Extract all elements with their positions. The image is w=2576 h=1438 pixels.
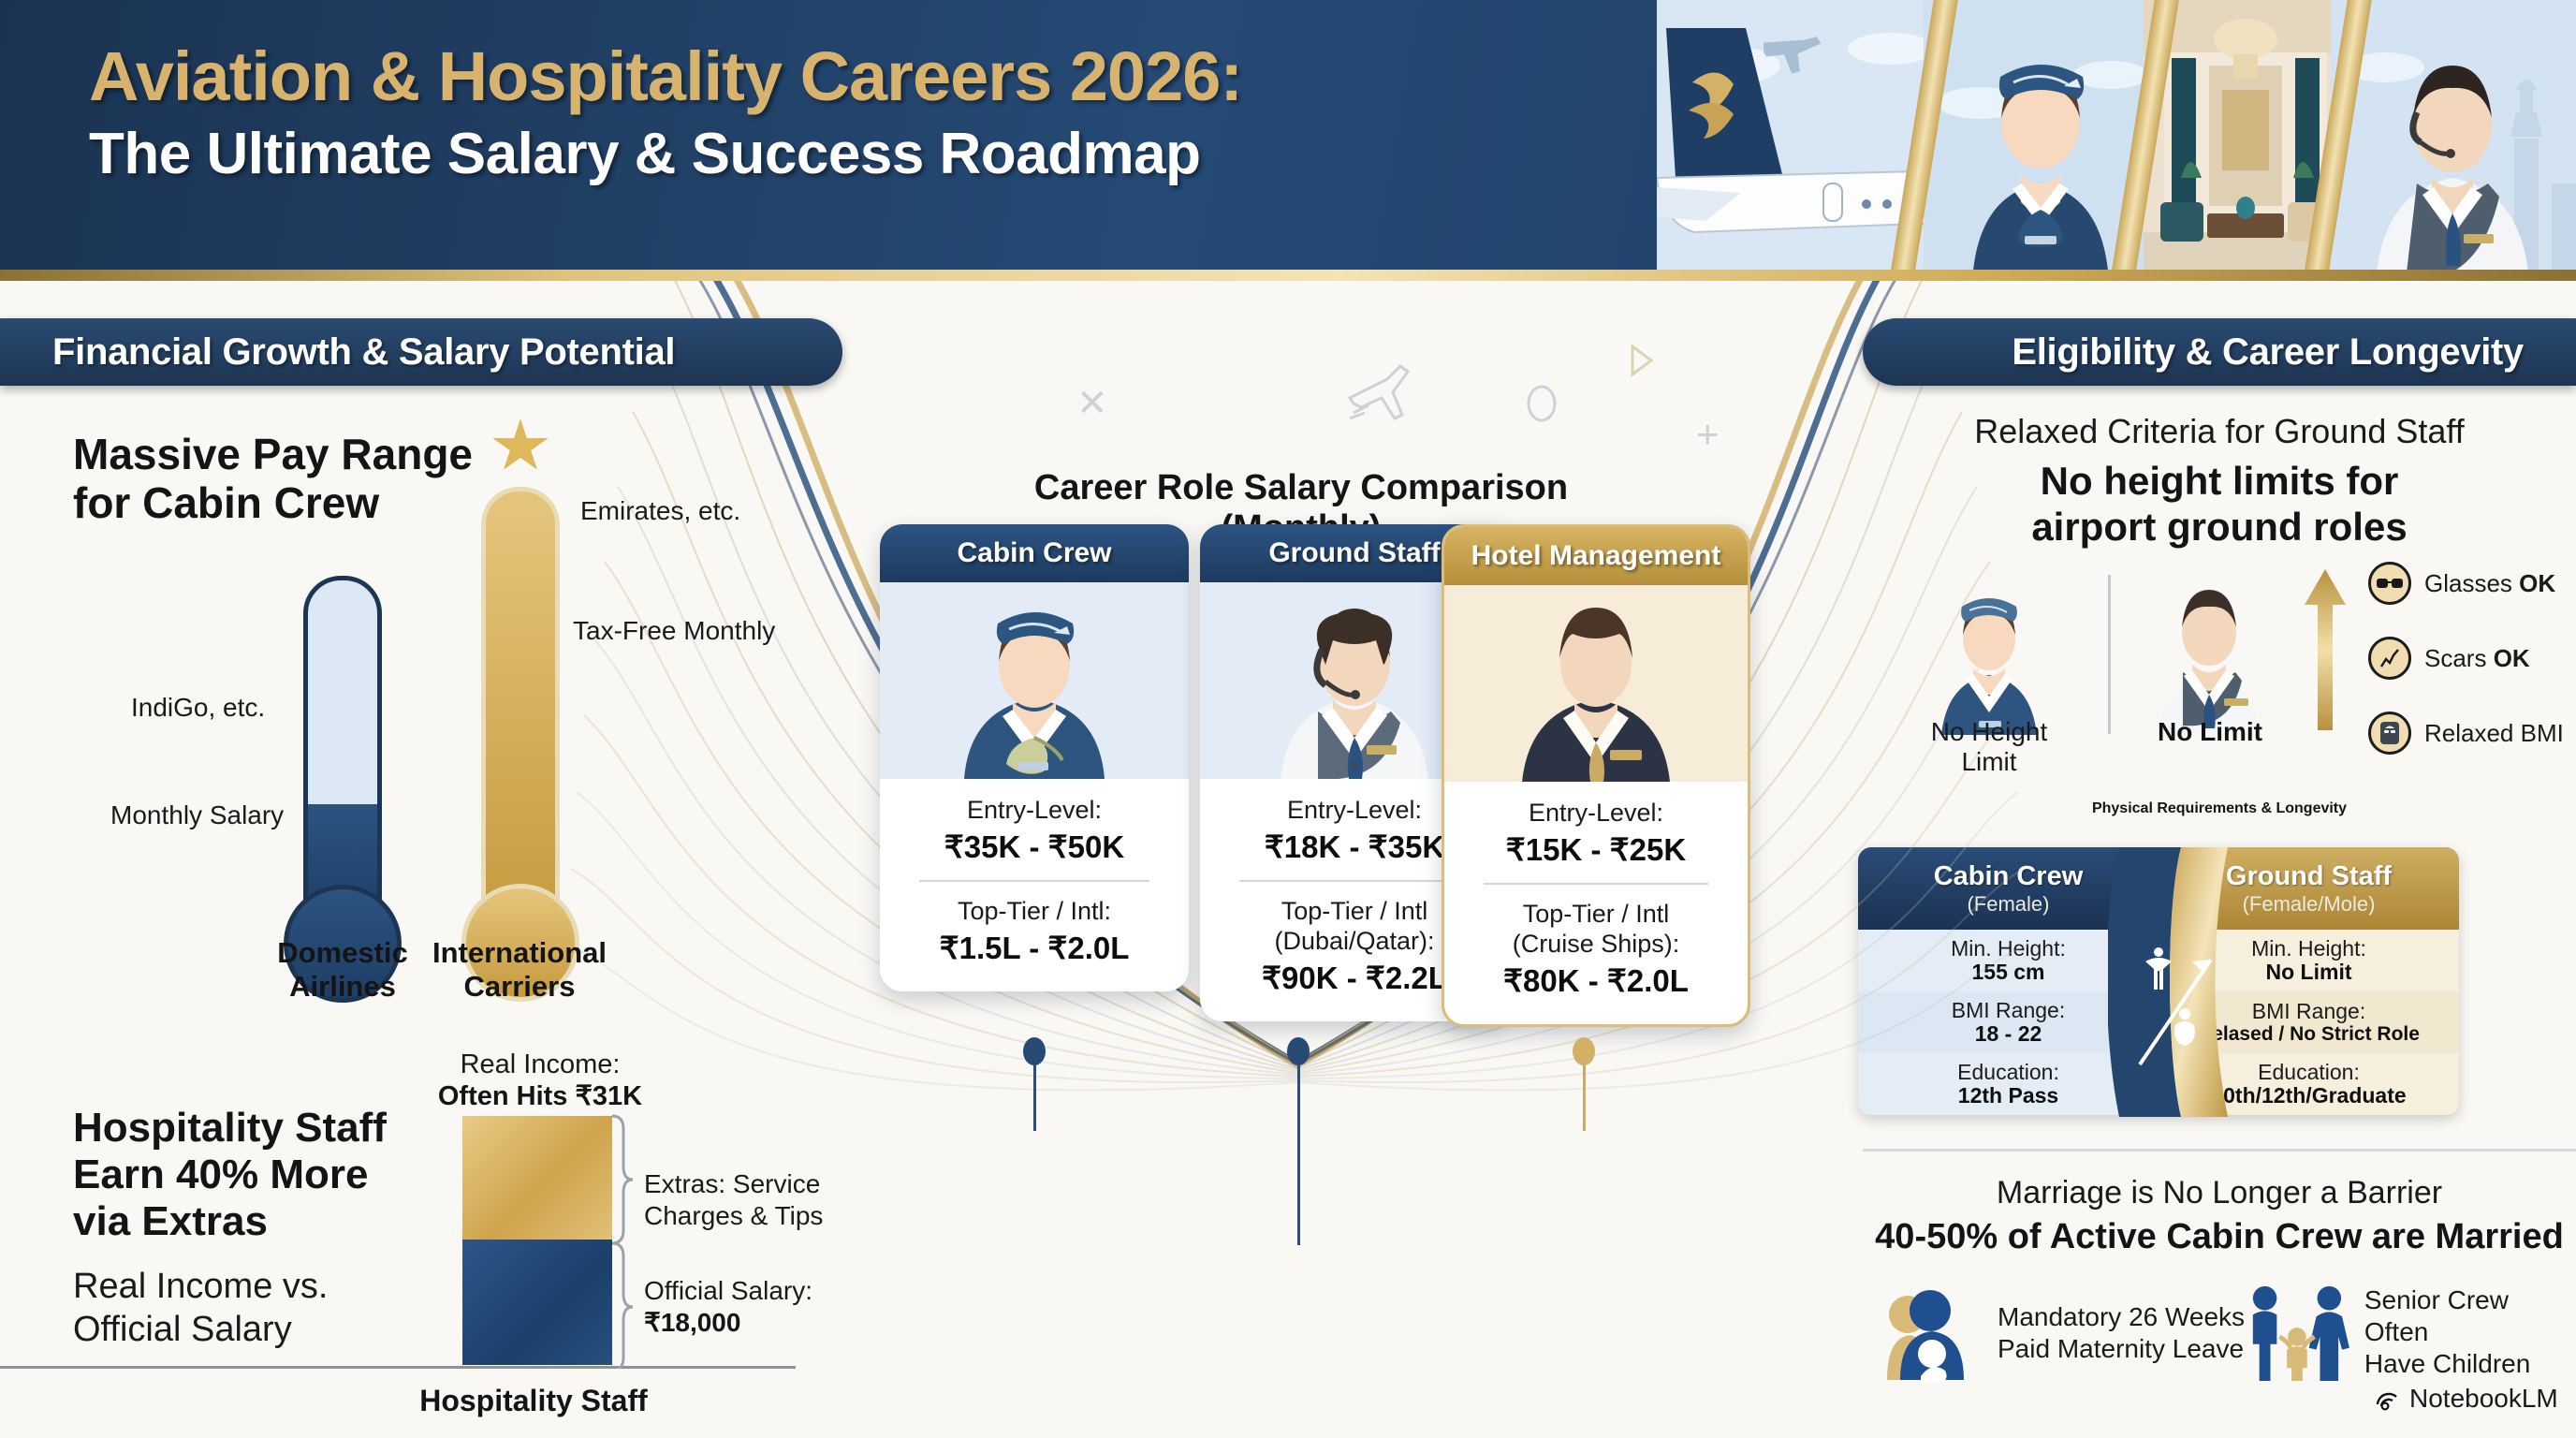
international-label-line2: Carriers (423, 970, 616, 1004)
eligibility-heading-line1: No height limits for (1863, 459, 2576, 505)
marriage-line2: 40-50% of Active Cabin Crew are Married (1863, 1217, 2576, 1257)
card-connector-line-2 (1297, 1049, 1300, 1245)
card-connector-dot-1 (1023, 1037, 1046, 1065)
cabin-top-value: ₹1.5L - ₹2.0L (895, 930, 1174, 967)
section-bar-eligibility-label: Eligibility & Career Longevity (1959, 331, 2576, 374)
hotel-entry-label: Entry-Level: (1459, 799, 1733, 829)
badge-scars-ok: OK (2494, 644, 2530, 672)
female-cabin-crew-avatar (880, 582, 1189, 779)
role-card-hotel-management[interactable]: Hotel Management Entry-Level: ₹15K - ₹25… (1442, 524, 1750, 1027)
official-salary-line1: Official Salary: (644, 1275, 812, 1307)
male-hotel-manager-avatar (1444, 585, 1748, 782)
role-card-hotel-management-title: Hotel Management (1471, 540, 1721, 572)
eligibility-divider (2108, 575, 2111, 734)
card-connector-dot-2 (1287, 1037, 1310, 1065)
payrange-heading-line2: for Cabin Crew (73, 479, 473, 528)
header-gold-divider (0, 270, 2576, 281)
payrange-heading: Massive Pay Range for Cabin Crew (73, 431, 473, 527)
fact-children-line2: Have Children (2364, 1348, 2576, 1380)
official-salary-label: Official Salary: ₹18,000 (644, 1275, 812, 1338)
international-caption-top: Emirates, etc. (580, 496, 740, 526)
fact-children-line1: Senior Crew Often (2364, 1284, 2576, 1348)
cabin-entry-label: Entry-Level: (895, 796, 1174, 826)
extras-label-line1: Extras: Service (644, 1168, 823, 1200)
header-text-block: Aviation & Hospitality Careers 2026: The… (89, 39, 1242, 186)
badge-glasses: Glasses OK (2368, 562, 2555, 605)
real-income-line1: Real Income: (423, 1049, 657, 1080)
bar-braces (610, 1114, 635, 1369)
hotel-top-label: Top-Tier / Intl (1459, 900, 1733, 930)
infographic-canvas: Aviation & Hospitality Careers 2026: The… (0, 0, 2576, 1438)
cabin-entry-value: ₹35K - ₹50K (895, 829, 1174, 866)
section-bar-eligibility: Eligibility & Career Longevity (1863, 318, 2576, 386)
domestic-label: Domestic Airlines (270, 936, 416, 1004)
fact-maternity-line2: Paid Maternity Leave (1998, 1333, 2245, 1365)
requirements-title: Physical Requirements & Longevity (1863, 800, 2576, 817)
badge-glasses-text: Glasses (2424, 569, 2519, 597)
section-bar-financial: Financial Growth & Salary Potential (0, 318, 842, 386)
card-divider (1239, 880, 1470, 882)
official-salary-line2: ₹18,000 (644, 1307, 812, 1339)
fact-maternity-line1: Mandatory 26 Weeks (1998, 1301, 2245, 1333)
card-divider (919, 880, 1149, 882)
marriage-divider (1863, 1149, 2576, 1152)
domestic-label-line1: Domestic (270, 936, 416, 970)
domestic-caption: IndiGo, etc. (131, 693, 265, 723)
payrange-heading-line1: Massive Pay Range (73, 431, 473, 479)
badge-scars: Scars OK (2368, 637, 2530, 680)
eligibility-female-figure (1928, 580, 2050, 740)
hotel-entry-value: ₹15K - ₹25K (1459, 831, 1733, 869)
header-banner: Aviation & Hospitality Careers 2026: The… (0, 0, 2576, 281)
eligibility-male-figure (2144, 575, 2275, 741)
badge-bmi-text: Relaxed BMI (2424, 719, 2564, 748)
badge-bmi: Relaxed BMI (2368, 712, 2564, 755)
badge-glasses-ok: OK (2519, 569, 2555, 597)
domestic-label-line2: Airlines (270, 970, 416, 1004)
international-label-line1: International (423, 936, 616, 970)
hospitality-heading: Hospitality Staff Earn 40% More via Extr… (73, 1105, 387, 1352)
real-income-line2: Often Hits ₹31K (423, 1080, 657, 1112)
hospitality-heading-line1: Hospitality Staff (73, 1105, 387, 1152)
hospitality-sub-line1: Real Income vs. (73, 1266, 387, 1309)
international-caption-bottom: Tax-Free Monthly (573, 616, 775, 646)
hotel-top-value: ₹80K - ₹2.0L (1459, 962, 1733, 1000)
role-card-hotel-management-header: Hotel Management (1444, 527, 1748, 585)
section-bar-financial-label: Financial Growth & Salary Potential (0, 331, 727, 374)
page-title: Aviation & Hospitality Careers 2026: (89, 39, 1242, 114)
hospitality-sub-line2: Official Salary (73, 1309, 387, 1352)
eligibility-subheading: Relaxed Criteria for Ground Staff (1863, 412, 2576, 451)
weight-scale-icon (2368, 712, 2411, 755)
scar-icon (2368, 637, 2411, 680)
cabin-top-label: Top-Tier / Intl: (895, 897, 1174, 927)
hospitality-heading-line3: via Extras (73, 1198, 387, 1245)
role-card-cabin-crew-body: Entry-Level: ₹35K - ₹50K Top-Tier / Intl… (880, 779, 1189, 991)
fact-children: Senior Crew Often Have Children (2245, 1283, 2576, 1382)
eligibility-male-label: No Limit (2123, 717, 2297, 747)
maternity-icon (1881, 1283, 1983, 1384)
card-connector-dot-3 (1573, 1037, 1595, 1065)
ground-staff-portrait (2331, 0, 2576, 281)
eligibility-heading-line2: airport ground roles (1863, 505, 2576, 550)
hospitality-heading-line2: Earn 40% More (73, 1152, 387, 1198)
role-card-cabin-crew-title: Cabin Crew (957, 537, 1111, 569)
badge-scars-text: Scars (2424, 644, 2494, 672)
eligibility-block: Relaxed Criteria for Ground Staff No hei… (1863, 412, 2576, 550)
role-card-cabin-crew[interactable]: Cabin Crew Entry-Level: ₹35K - ₹50K Top-… (880, 524, 1189, 991)
hotel-top-label-2: (Cruise Ships): (1459, 930, 1733, 960)
card-divider (1484, 883, 1708, 885)
axis-label-monthly-salary: Monthly Salary (110, 800, 284, 830)
marriage-line1: Marriage is No Longer a Barrier (1863, 1175, 2576, 1211)
marriage-block: Marriage is No Longer a Barrier 40-50% o… (1863, 1175, 2576, 1257)
fact-maternity: Mandatory 26 Weeks Paid Maternity Leave (1881, 1283, 2245, 1384)
page-subtitle: The Ultimate Salary & Success Roadmap (89, 122, 1242, 186)
extras-label: Extras: Service Charges & Tips (644, 1168, 823, 1231)
family-icon (2245, 1283, 2351, 1382)
role-card-hotel-management-body: Entry-Level: ₹15K - ₹25K Top-Tier / Intl… (1444, 782, 1748, 1024)
glasses-icon (2368, 562, 2411, 605)
international-label: International Carriers (423, 936, 616, 1004)
extras-label-line2: Charges & Tips (644, 1200, 823, 1232)
role-card-ground-staff-title: Ground Staff (1268, 537, 1440, 569)
role-card-cabin-crew-header: Cabin Crew (880, 524, 1189, 582)
real-income-label: Real Income: Often Hits ₹31K (423, 1049, 657, 1112)
hospitality-baseline-label: Hospitality Staff (374, 1384, 693, 1418)
eligibility-female-label: No Height Limit (1910, 717, 2069, 777)
up-arrow-icon (2299, 565, 2351, 734)
